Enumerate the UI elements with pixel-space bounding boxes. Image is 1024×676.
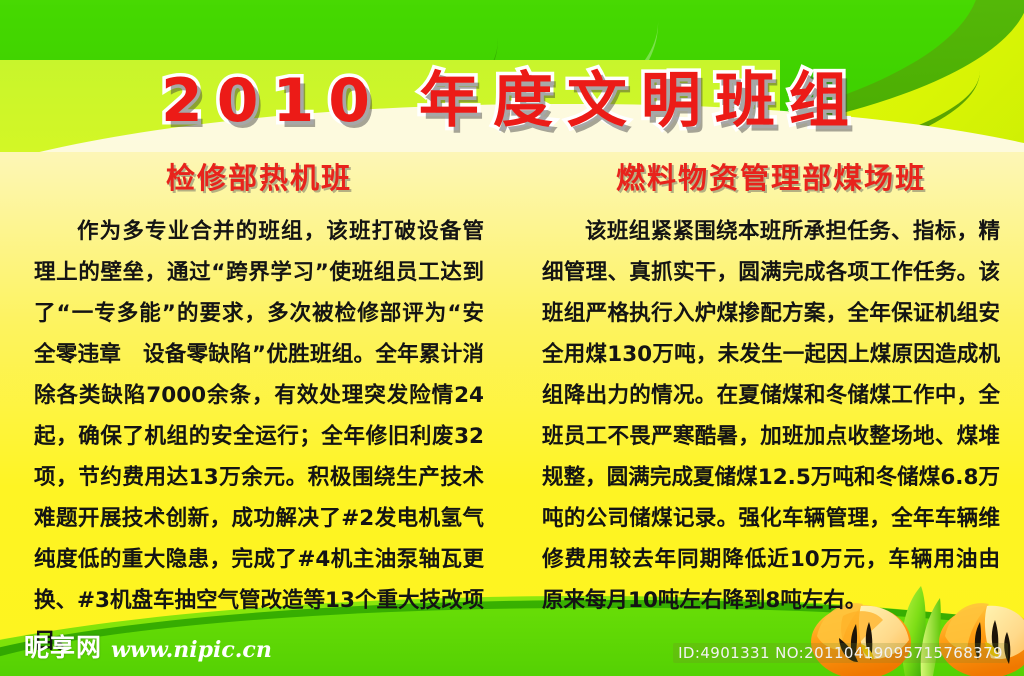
column-left-body: 作为多专业合并的班组，该班打破设备管理上的壁垒，通过“跨界学习”使班组员工达到了… bbox=[34, 211, 484, 662]
column-left: 检修部热机班 作为多专业合并的班组，该班打破设备管理上的壁垒，通过“跨界学习”使… bbox=[0, 155, 512, 625]
image-id-code: ID:4901331 NO:20110419095715768379 bbox=[673, 643, 1008, 663]
column-right-body: 该班组紧紧围绕本班所承担任务、指标，精细管理、真抓实干，圆满完成各项工作任务。该… bbox=[542, 211, 1000, 621]
watermark: 昵享网 www.nipic.cn bbox=[24, 628, 272, 664]
page-title: 2010 年度文明班组 bbox=[0, 52, 1024, 139]
column-right: 燃料物资管理部煤场班 该班组紧紧围绕本班所承担任务、指标，精细管理、真抓实干，圆… bbox=[512, 155, 1024, 625]
poster-canvas: 2010 年度文明班组 检修部热机班 作为多专业合并的班组，该班打破设备管理上的… bbox=[0, 0, 1024, 676]
content-columns: 检修部热机班 作为多专业合并的班组，该班打破设备管理上的壁垒，通过“跨界学习”使… bbox=[0, 155, 1024, 625]
watermark-logo: 昵享网 bbox=[24, 628, 102, 664]
column-right-heading: 燃料物资管理部煤场班 bbox=[542, 155, 1000, 197]
column-left-heading: 检修部热机班 bbox=[34, 155, 484, 197]
watermark-url: www.nipic.cn bbox=[111, 637, 272, 664]
